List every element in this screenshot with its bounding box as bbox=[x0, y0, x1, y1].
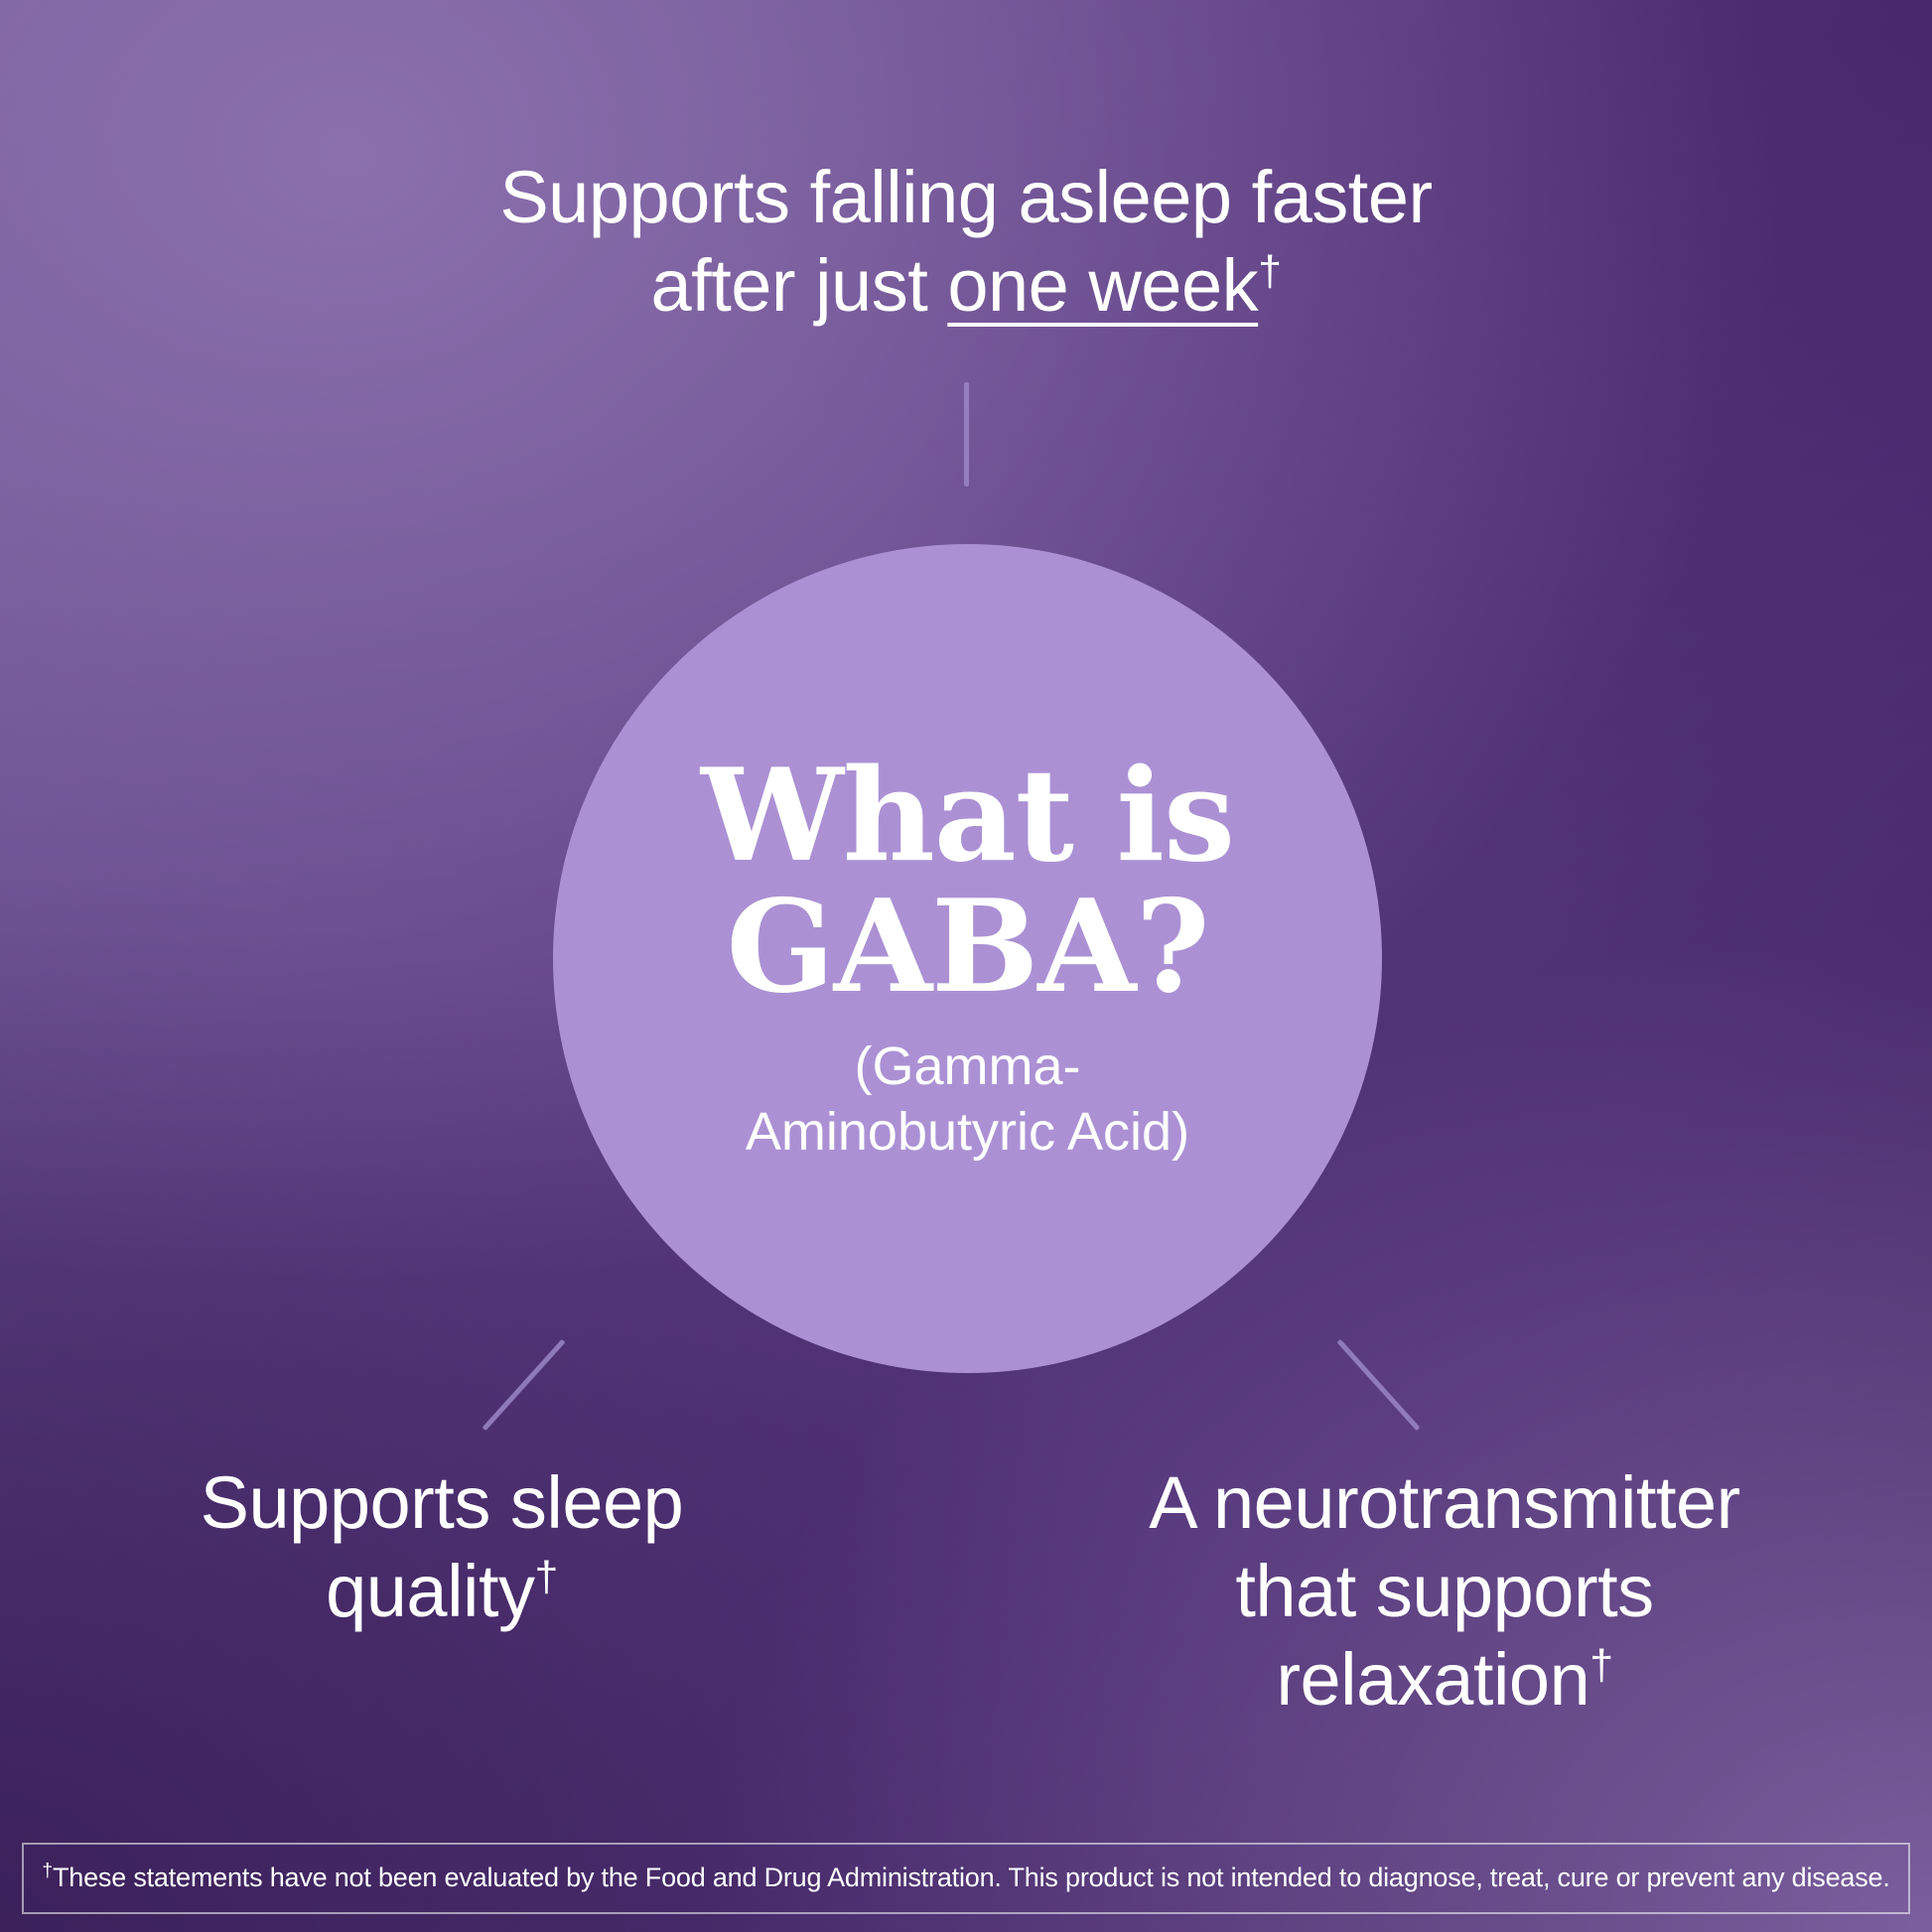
circle-subtitle: (Gamma- Aminobutyric Acid) bbox=[746, 1035, 1189, 1166]
circle-title: What is GABA? bbox=[701, 752, 1234, 1014]
callout-top-line1: Supports falling asleep faster bbox=[499, 156, 1432, 238]
callout-bottom-left-line1: Supports sleep bbox=[201, 1461, 684, 1544]
footnote-dagger-top: † bbox=[1258, 247, 1281, 295]
callout-bottom-right-line1: A neurotransmitter bbox=[1149, 1461, 1740, 1544]
callout-bottom-left-line2: quality bbox=[326, 1550, 534, 1632]
callout-bottom-right-line3: relaxation bbox=[1276, 1638, 1589, 1721]
callout-supports-falling-asleep: Supports falling asleep faster after jus… bbox=[380, 154, 1552, 331]
connector-line-top bbox=[964, 382, 969, 486]
callout-neurotransmitter-relaxation: A neurotransmitter that supports relaxat… bbox=[1033, 1459, 1857, 1724]
circle-subtitle-line1: (Gamma- bbox=[854, 1036, 1080, 1096]
footnote-dagger-bottom-left: † bbox=[535, 1553, 558, 1600]
circle-title-line1: What is bbox=[701, 742, 1234, 891]
disclaimer-box: †These statements have not been evaluate… bbox=[22, 1843, 1910, 1914]
footnote-dagger-bottom-right: † bbox=[1589, 1641, 1612, 1689]
connector-line-bottom-left bbox=[482, 1339, 565, 1432]
callout-bottom-right-line2: that supports bbox=[1235, 1550, 1653, 1632]
gaba-infographic: Supports falling asleep faster after jus… bbox=[0, 0, 1932, 1932]
circle-title-line2: GABA? bbox=[726, 873, 1208, 1022]
circle-subtitle-line2: Aminobutyric Acid) bbox=[746, 1102, 1189, 1162]
footnote-dagger-disclaimer: † bbox=[42, 1860, 53, 1881]
disclaimer-body: These statements have not been evaluated… bbox=[53, 1863, 1890, 1892]
center-circle: What is GABA? (Gamma- Aminobutyric Acid) bbox=[553, 544, 1382, 1373]
callout-top-line2-prefix: after just bbox=[650, 244, 947, 327]
callout-top-underlined-one-week: one week bbox=[947, 244, 1258, 327]
disclaimer-text: †These statements have not been evaluate… bbox=[42, 1863, 1889, 1893]
connector-line-bottom-right bbox=[1336, 1339, 1420, 1432]
callout-supports-sleep-quality: Supports sleep quality† bbox=[60, 1459, 824, 1636]
